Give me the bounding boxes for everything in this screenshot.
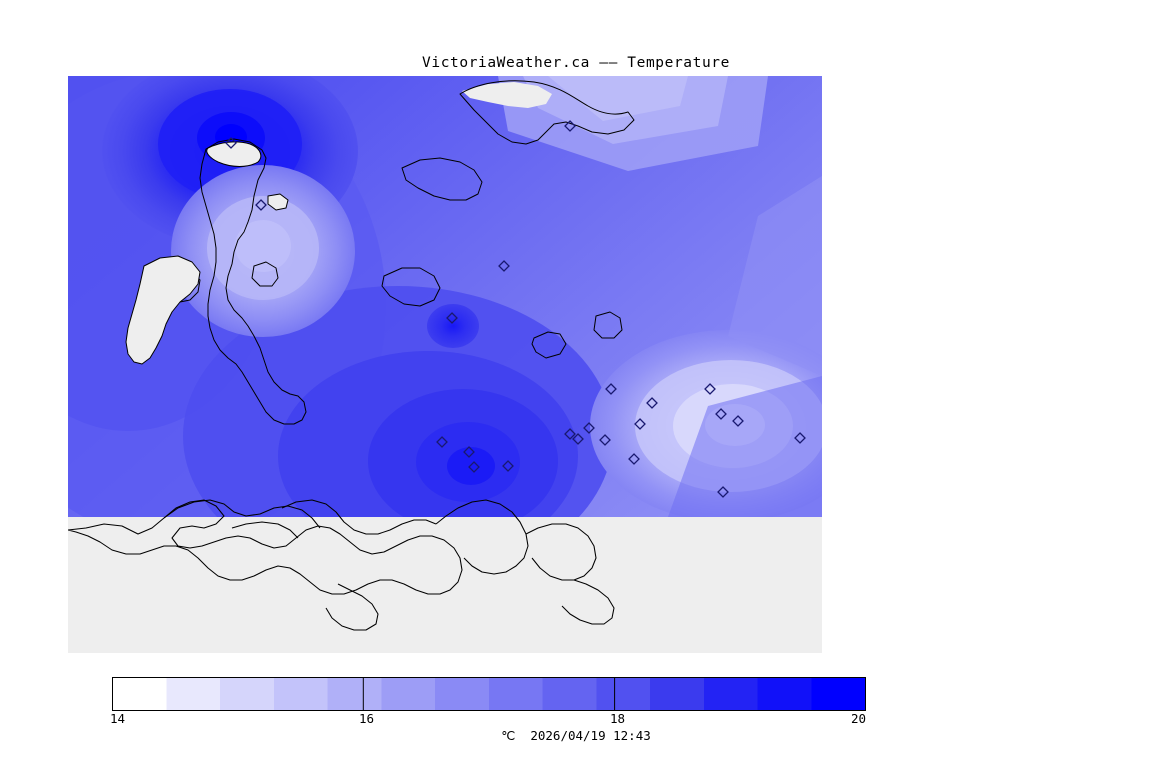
colorbar-label-min: 14 <box>110 711 125 726</box>
colorbar-label-max: 20 <box>851 711 866 726</box>
temperature-contour-map[interactable] <box>68 76 822 653</box>
page-title: VictoriaWeather.ca —— Temperature <box>0 55 1152 71</box>
contour-field <box>68 76 822 586</box>
colorbar[interactable] <box>112 677 866 711</box>
colorbar-label-16: 16 <box>359 711 374 726</box>
temperature-map-panel[interactable] <box>68 76 822 653</box>
colorbar-label-18: 18 <box>610 711 625 726</box>
colorbar-tick-labels: 14 16 18 20 <box>0 711 1152 729</box>
weather-map-page: VictoriaWeather.ca —— Temperature <box>0 0 1152 768</box>
colorbar-swatches[interactable] <box>112 677 866 711</box>
colorbar-caption: ℃ 2026/04/19 12:43 <box>0 728 1152 743</box>
